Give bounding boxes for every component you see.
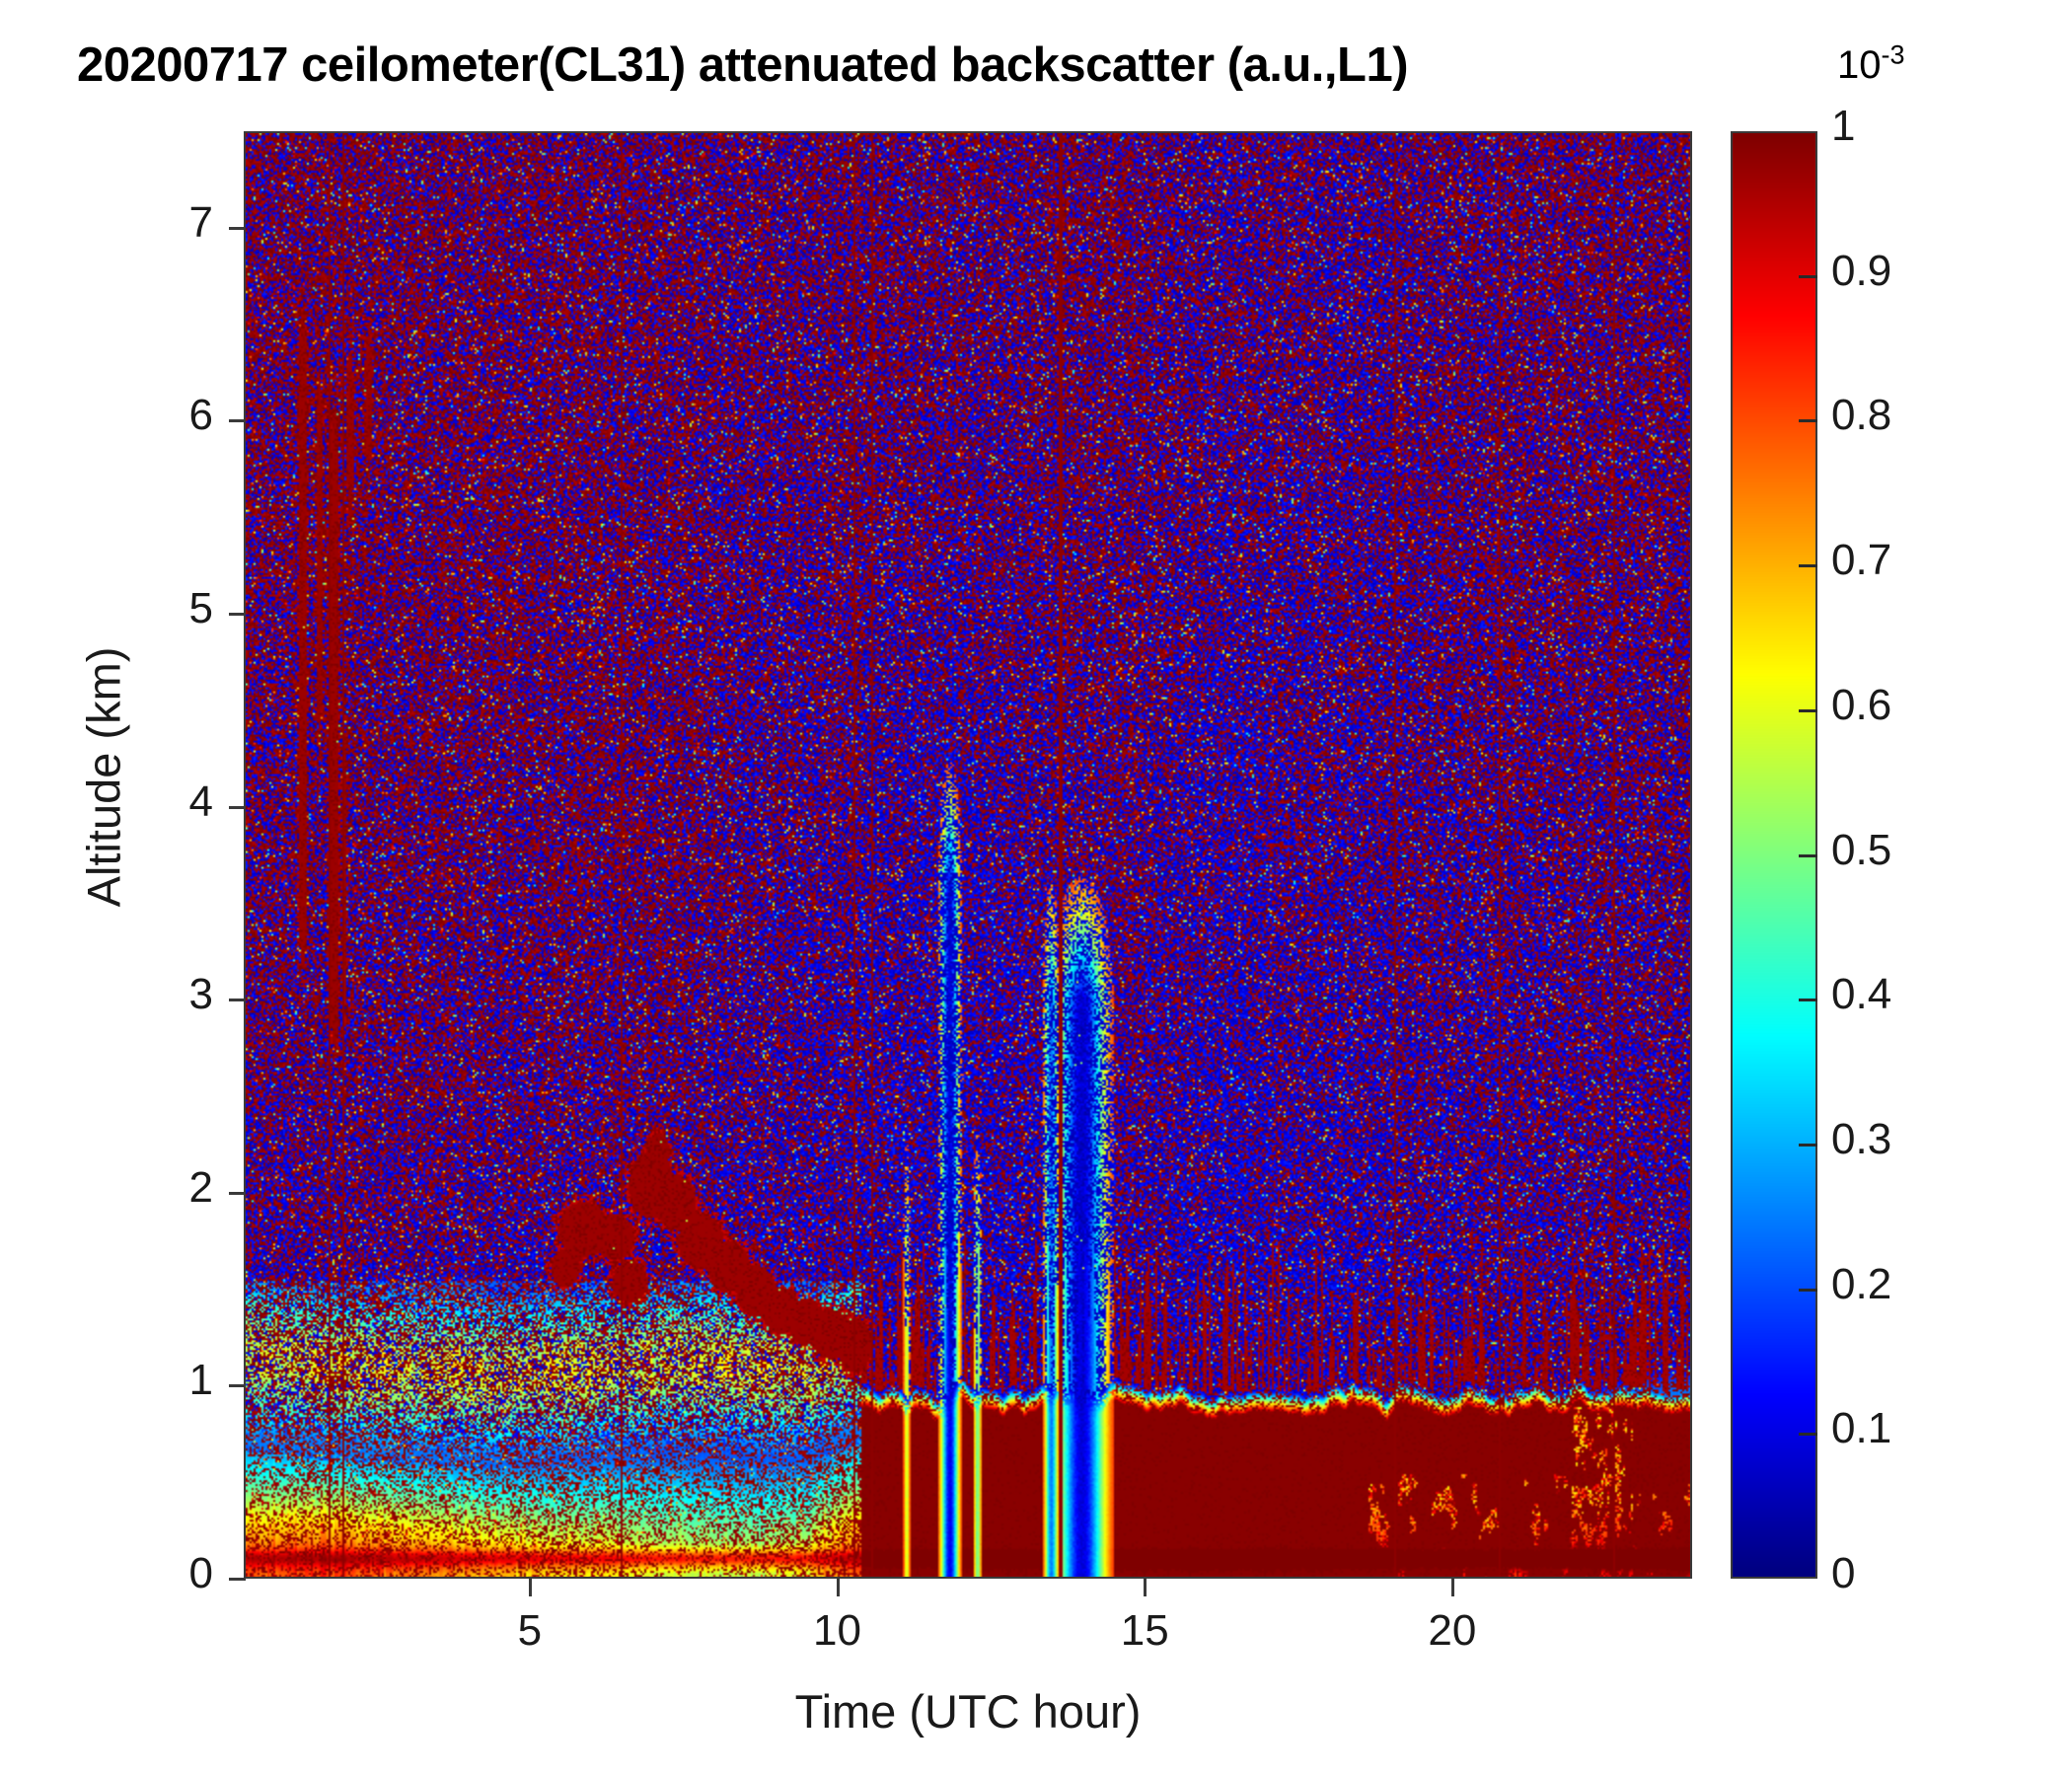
colorbar-exponent-multiplier: 10-3	[1837, 43, 1905, 88]
y-axis-tick-mark	[229, 227, 246, 230]
y-axis-tick-label: 7	[189, 198, 213, 248]
colorbar-tick-label: 0.2	[1831, 1260, 1891, 1309]
y-axis-tick-label: 0	[189, 1549, 213, 1598]
colorbar-tick-label: 0.4	[1831, 970, 1891, 1019]
y-axis-tick-label: 6	[189, 391, 213, 440]
y-axis-tick-mark	[229, 419, 246, 422]
x-axis-tick-mark	[1144, 1579, 1147, 1596]
colorbar-exponent-base: 10	[1837, 43, 1882, 87]
y-axis-tick-label: 4	[189, 777, 213, 827]
colorbar-tick-mark	[1799, 564, 1817, 567]
colorbar-tick-label: 0.8	[1831, 391, 1891, 440]
y-axis-tick-label: 2	[189, 1163, 213, 1213]
x-axis-tick-mark	[837, 1579, 840, 1596]
figure-container: 20200717 ceilometer(CL31) attenuated bac…	[0, 0, 2072, 1776]
colorbar-tick-label: 0.1	[1831, 1404, 1891, 1453]
x-axis-label: Time (UTC hour)	[244, 1684, 1692, 1739]
colorbar-tick-mark	[1799, 999, 1817, 1001]
y-axis-tick-mark	[229, 1384, 246, 1387]
y-axis-tick-mark	[229, 613, 246, 616]
colorbar-tick-label: 0.9	[1831, 247, 1891, 296]
colorbar-tick-mark	[1799, 1144, 1817, 1147]
colorbar-tick-mark	[1799, 854, 1817, 857]
x-axis-tick-label: 10	[813, 1606, 861, 1656]
y-axis-tick-mark	[229, 1578, 246, 1581]
y-axis-tick-mark	[229, 999, 246, 1001]
heatmap-plot-area[interactable]	[246, 133, 1692, 1579]
colorbar-tick-label: 0.5	[1831, 826, 1891, 875]
x-axis-tick-label: 20	[1428, 1606, 1476, 1656]
y-axis-tick-label: 5	[189, 584, 213, 633]
y-axis-tick-label: 3	[189, 970, 213, 1019]
colorbar-tick-label: 0.7	[1831, 536, 1891, 585]
colorbar-tick-label: 0.6	[1831, 681, 1891, 730]
colorbar-tick-label: 0.3	[1831, 1115, 1891, 1164]
colorbar-tick-label: 1	[1831, 102, 1855, 151]
colorbar-tick-mark	[1799, 419, 1817, 422]
x-axis-tick-label: 15	[1121, 1606, 1169, 1656]
colorbar-tick-mark	[1799, 275, 1817, 278]
x-axis-tick-mark	[1451, 1579, 1454, 1596]
x-axis-tick-label: 5	[518, 1606, 542, 1656]
page-title: 20200717 ceilometer(CL31) attenuated bac…	[77, 37, 1408, 93]
colorbar-tick-mark	[1799, 709, 1817, 712]
colorbar-tick-mark	[1799, 1289, 1817, 1292]
heatmap-axes[interactable]	[244, 131, 1692, 1579]
y-axis-tick-label: 1	[189, 1356, 213, 1405]
colorbar-exponent-power: -3	[1882, 40, 1905, 70]
y-axis-label: Altitude (km)	[77, 570, 131, 985]
colorbar-tick-label: 0	[1831, 1549, 1855, 1598]
y-axis-tick-mark	[229, 806, 246, 809]
x-axis-tick-mark	[529, 1579, 532, 1596]
colorbar-tick-mark	[1799, 1433, 1817, 1436]
y-axis-tick-mark	[229, 1192, 246, 1195]
